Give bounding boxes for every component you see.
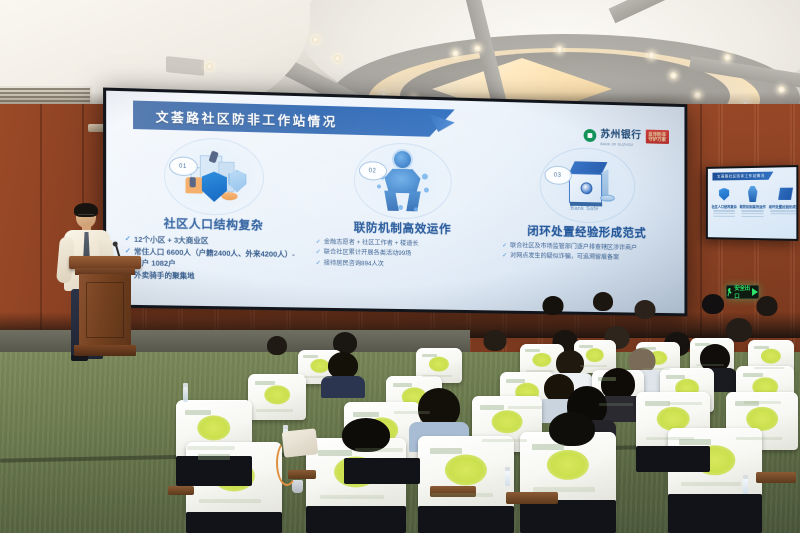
column-bullets: ✓ 12个小区 + 3大商业区 ✓ 常住人口 6600人（户籍2400人、外来4… xyxy=(121,235,306,286)
isometric-city-illustration xyxy=(177,146,251,206)
secondary-display: 文荟路社区防非工作站情况 社区人口结构复杂 联防机制高效运作 xyxy=(706,165,798,241)
slide-surface: 文荟路社区防非工作站情况 苏州银行 BANK OF SUZHOU 反诈防非 守护… xyxy=(106,91,684,314)
secondary-columns: 社区人口结构复杂 联防机制高效运作 闭环处置经验形成范式 xyxy=(712,184,793,219)
bank-logo: 苏州银行 BANK OF SUZHOU 反诈防非 守护万家 xyxy=(584,124,669,148)
particle-dot xyxy=(377,184,381,188)
downlight-icon xyxy=(452,50,459,57)
glasses-icon xyxy=(78,214,94,218)
bank-safe-icon: 03 Bank Safe xyxy=(539,147,635,224)
podium-front-panel xyxy=(86,282,124,338)
audience-person xyxy=(700,294,726,318)
safe-dial-icon xyxy=(580,182,592,194)
check-icon: ✓ xyxy=(502,242,507,251)
seat-cushion xyxy=(636,446,710,472)
secondary-display-surface: 文荟路社区防非工作站情况 社区人口结构复杂 联防机制高效运作 xyxy=(708,167,796,239)
seat-armrest xyxy=(506,492,558,504)
text-line-placeholder xyxy=(713,210,735,211)
podium-base xyxy=(74,345,136,356)
secondary-column-2: 联防机制高效运作 xyxy=(740,184,766,218)
text-line-placeholder xyxy=(771,210,797,211)
secondary-title: 文荟路社区防非工作站情况 xyxy=(712,172,773,181)
column-bullets: ✓ 联合社区及市场监管部门逐户排查辖区涉诈商户 ✓ 对网点发生的疑似诈骗，可追溯… xyxy=(498,242,675,266)
figure-head xyxy=(394,151,411,168)
slide-column-2: 02 xyxy=(312,141,493,289)
exit-sign-label: 安全出口 xyxy=(734,284,750,300)
slide-columns: 01 社区人口结构复杂 xyxy=(121,136,675,292)
paper-cup xyxy=(292,480,303,493)
text-line-placeholder xyxy=(713,215,735,216)
audience-person xyxy=(480,330,510,356)
bank-logo-mark-icon xyxy=(584,128,597,141)
text-line-placeholder xyxy=(742,213,764,214)
audience-person xyxy=(540,296,566,320)
secondary-heading: 社区人口结构复杂 xyxy=(712,204,737,209)
safe-icon xyxy=(769,183,797,204)
audience-person xyxy=(330,418,402,452)
column-bullets: ✓ 金融志愿者 + 社区工作者 + 楼道长 ✓ 联合社区累计开展各类活动99场 … xyxy=(312,238,493,273)
audience-person xyxy=(590,292,616,316)
slide-column-3: 03 Bank Safe 闭环处置经验形成范式 xyxy=(498,146,675,293)
secondary-title-banner: 文荟路社区防非工作站情况 xyxy=(712,172,773,181)
downlight-icon xyxy=(556,46,563,53)
projection-screen: 文荟路社区防非工作站情况 苏州银行 BANK OF SUZHOU 反诈防非 守护… xyxy=(103,88,687,317)
campaign-badge: 反诈防非 守护万家 xyxy=(645,129,669,144)
particle-figure-illustration xyxy=(373,150,431,211)
audience-person xyxy=(264,336,290,360)
downlight-icon xyxy=(206,63,213,70)
safe-illustration: Bank Safe xyxy=(555,156,619,215)
podium-lectern xyxy=(73,256,137,360)
seat-cushion xyxy=(306,506,406,533)
column-number-badge: 01 xyxy=(169,156,198,176)
figure-body xyxy=(385,169,421,194)
slide-title: 文荟路社区防非工作站情况 xyxy=(133,105,338,130)
seat-cushion xyxy=(668,494,762,533)
column-heading: 社区人口结构复杂 xyxy=(164,215,264,233)
running-person-icon xyxy=(727,288,732,297)
column-number-badge: 03 xyxy=(544,166,571,185)
downlight-icon xyxy=(648,52,655,59)
audience-seat xyxy=(418,436,514,510)
seat-cushion xyxy=(344,458,420,484)
water-bottle xyxy=(183,386,188,402)
particle-dot xyxy=(421,173,427,179)
arrow-right-icon xyxy=(752,288,758,296)
bullet-item: ✓ 外卖骑手的聚集地 xyxy=(125,270,302,284)
check-icon: ✓ xyxy=(125,235,131,246)
downlight-icon xyxy=(334,55,341,62)
column-heading: 联防机制高效运作 xyxy=(354,219,451,237)
water-bottle xyxy=(505,470,510,486)
downlight-icon xyxy=(670,72,677,79)
audience-person xyxy=(754,296,780,320)
seat-cushion xyxy=(520,500,616,533)
secondary-heading: 闭环处置经验形成范式 xyxy=(769,204,797,209)
audience-person xyxy=(632,300,658,324)
slide-column-1: 01 社区人口结构复杂 xyxy=(121,136,306,286)
bag-strap xyxy=(276,440,298,486)
downlight-icon xyxy=(474,45,481,52)
safe-label: Bank Safe xyxy=(570,206,598,213)
text-line-placeholder xyxy=(742,210,764,211)
audience-person xyxy=(536,412,608,446)
column-number-badge: 02 xyxy=(358,161,386,181)
seat-cushion xyxy=(418,506,514,533)
bank-logo-text: 苏州银行 BANK OF SUZHOU xyxy=(600,124,641,147)
network-person-icon: 02 xyxy=(353,142,451,220)
water-bottle xyxy=(743,478,748,494)
check-icon: ✓ xyxy=(316,259,321,268)
secondary-heading: 联防机制高效运作 xyxy=(740,204,766,209)
secondary-column-3: 闭环处置经验形成范式 xyxy=(769,183,797,218)
seat-armrest xyxy=(756,472,796,483)
particle-dot xyxy=(413,207,417,211)
check-icon: ✓ xyxy=(502,252,507,261)
text-line-placeholder xyxy=(742,215,764,216)
coin-stack-icon xyxy=(600,195,615,202)
particle-dot xyxy=(423,188,428,193)
particle-dot xyxy=(398,205,403,210)
bullet-item: ✓ 对网点发生的疑似诈骗，可追溯留痕备案 xyxy=(502,252,671,264)
secondary-column-1: 社区人口结构复杂 xyxy=(712,184,737,218)
audience-person xyxy=(320,352,366,392)
downlight-icon xyxy=(312,36,319,43)
bullet-item: ✓ 接待居民咨询894人次 xyxy=(316,259,489,271)
audience-seat xyxy=(248,374,306,420)
downlight-icon xyxy=(724,54,731,61)
seat-armrest xyxy=(168,486,194,495)
community-shield-icon: 01 xyxy=(163,137,263,216)
seat-cushion xyxy=(186,512,282,533)
text-line-placeholder xyxy=(713,213,735,214)
figure-leg xyxy=(384,191,399,211)
conference-hall-scene: 文荟路社区防非工作站情况 苏州银行 BANK OF SUZHOU 反诈防非 守护… xyxy=(0,0,800,533)
check-icon: ✓ xyxy=(316,249,321,258)
column-heading: 闭环处置经验形成范式 xyxy=(527,223,646,241)
text-line-placeholder xyxy=(771,213,797,214)
shield-icon xyxy=(712,184,737,204)
person-icon xyxy=(740,184,766,204)
seat-cushion xyxy=(176,456,252,486)
check-icon: ✓ xyxy=(316,238,321,247)
bullet-item: ✓ 常住人口 6600人（户籍2400人、外来4200人）-商户 1082户 xyxy=(125,247,302,272)
person-figure xyxy=(189,177,195,187)
slide-title-banner: 文荟路社区防非工作站情况 xyxy=(133,101,455,138)
